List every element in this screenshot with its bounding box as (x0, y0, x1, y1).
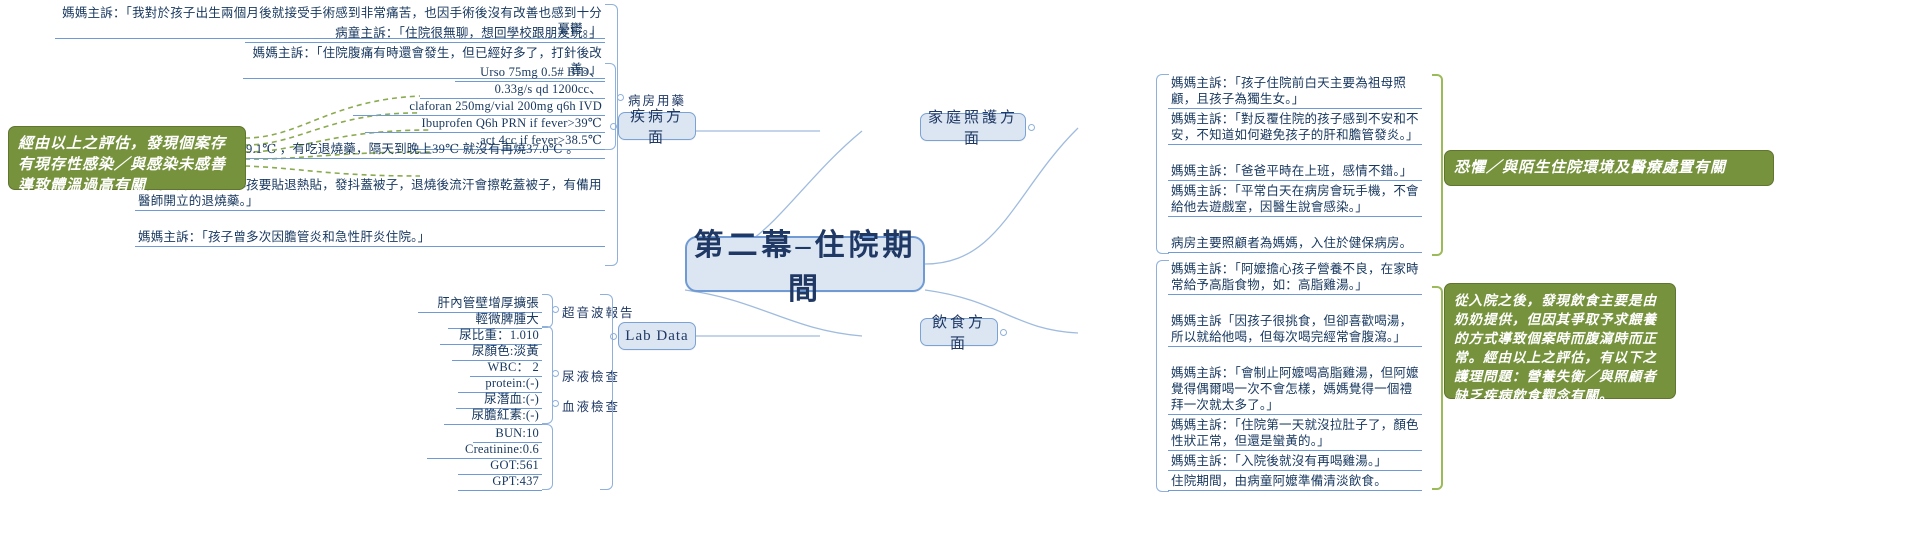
leaf-text: protein:(-) (485, 376, 539, 390)
blood-test-bracket (542, 424, 553, 490)
family-group-bracket (1156, 74, 1169, 254)
leaf-text: 媽媽主訴：「入院後就沒有再喝雞湯。」 (1171, 454, 1387, 468)
leaf-text: 病童主訴：「住院很無聊，想回學校跟朋友玩。」 (335, 26, 602, 40)
leaf-text: 媽媽主訴：「會制止阿嬤喝高脂雞湯，但阿嬤覺得偶爾喝一次不會怎樣，媽媽覺得一個禮拜… (1171, 366, 1419, 412)
lab-group-bracket (600, 294, 613, 490)
leaf-text: 肝內管壁增厚擴張 (437, 296, 539, 310)
branch-lab[interactable]: Lab Data (618, 322, 696, 350)
leaf-text: 媽媽主訴：「對反覆住院的孩子感到不安和不安，不知道如何避免孩子的肝和膽管發炎。」 (1171, 112, 1419, 142)
branch-disease[interactable]: 疾病方面 (618, 112, 696, 140)
connector-lines (0, 0, 1927, 545)
leaf-family-0[interactable]: 媽媽主訴：「孩子住院前白天主要為祖母照顧，且孩子為獨生女。」 (1168, 74, 1422, 109)
leaf-text: Creatinine:0.6 (465, 442, 539, 456)
leaf-diet-3[interactable]: 媽媽主訴：「住院第一天就沒拉肚子了，顏色性狀正常，但還是蠻黃的。」 (1168, 416, 1422, 451)
leaf-text: 媽媽主訴：「孩子住院前白天主要為祖母照顧，且孩子為獨生女。」 (1171, 76, 1406, 106)
urine-test-connector (552, 370, 559, 377)
leaf-disease-1[interactable]: 病童主訴：「住院很無聊，想回學校跟朋友玩。」 (245, 24, 605, 43)
branch-family[interactable]: 家庭照護方面 (920, 113, 1026, 141)
center-node-label: 第二幕–住院期間 (687, 220, 923, 308)
callout-text: 恐懼／與陌生住院環境及醫療處置有關 (1454, 158, 1726, 179)
leaf-text: GOT:561 (490, 458, 539, 472)
leaf-family-2[interactable]: 媽媽主訴：「爸爸平時在上班，感情不錯。」 (1168, 162, 1422, 181)
ward-meds-connector (617, 94, 624, 101)
leaf-text: WBC： 2 (487, 360, 539, 374)
leaf-text: 媽媽主訴：「孩子曾多次因膽管炎和急性肝炎住院。」 (138, 230, 430, 244)
disease-group-bracket (605, 4, 618, 266)
leaf-family-4[interactable]: 病房主要照顧者為媽媽，入住於健保病房。 (1168, 234, 1422, 253)
leaf-text: 尿潛血:(-) (484, 392, 539, 406)
leaf-text: 尿膽紅素:(-) (471, 408, 539, 422)
branch-diet-label: 飲食方面 (927, 311, 991, 353)
leaf-text: 媽媽主訴：「爸爸平時在上班，感情不錯。」 (1171, 164, 1413, 178)
leaf-text: 媽媽主訴：「平常白天在病房會玩手機，不會給他去遊戲室，因醫生說會感染。」 (1171, 184, 1419, 214)
leaf-family-1[interactable]: 媽媽主訴：「對反覆住院的孩子感到不安和不安，不知道如何避免孩子的肝和膽管發炎。」 (1168, 110, 1422, 145)
branch-family-connector (1028, 124, 1035, 131)
branch-family-label: 家庭照護方面 (927, 106, 1019, 148)
leaf-lab-7[interactable]: 尿膽紅素:(-) (444, 406, 542, 425)
leaf-text: 0.33g/s qd 1200cc、 (495, 82, 602, 96)
branch-lab-label: Lab Data (625, 328, 688, 345)
branch-diet-connector (1000, 329, 1007, 336)
mindmap-canvas: 第二幕–住院期間 疾病方面 Lab Data 家庭照護方面 飲食方面 媽媽主訴：… (0, 0, 1927, 545)
leaf-text: Urso 75mg 0.5# BID、 (480, 65, 602, 79)
leaf-text: 媽媽主訴：「阿嬤擔心孩子營養不良，在家時常給予高脂食物，如：高脂雞湯。」 (1171, 262, 1419, 292)
leaf-lab-11[interactable]: GPT:437 (458, 472, 542, 491)
leaf-diet-2[interactable]: 媽媽主訴：「會制止阿嬤喝高脂雞湯，但阿嬤覺得偶爾喝一次不會怎樣，媽媽覺得一個禮拜… (1168, 364, 1422, 415)
leaf-text: 媽媽主訴「因孩子很挑食，但卻喜歡喝湯，所以就給他喝，但每次喝完經常會腹瀉。」 (1171, 314, 1412, 344)
leaf-family-3[interactable]: 媽媽主訴：「平常白天在病房會玩手機，不會給他去遊戲室，因醫生說會感染。」 (1168, 182, 1422, 217)
branch-diet[interactable]: 飲食方面 (920, 318, 998, 346)
leaf-text: GPT:437 (492, 474, 539, 488)
callout-infection[interactable]: 經由以上之評估，發現個案存有現存性感染／與感染未感善導致體溫過高有關 (8, 126, 246, 190)
leaf-text: claforan 250mg/vial 200mg q6h IVD (409, 99, 602, 113)
diet-group-bracket (1156, 260, 1169, 492)
leaf-text: BUN:10 (495, 426, 539, 440)
leaf-text: 輕微脾腫大 (475, 312, 539, 326)
diet-green-bracket (1432, 286, 1443, 490)
callout-nutrition[interactable]: 從入院之後，發現飲食主要是由奶奶提供，但因其爭取予求餵養的方式導致個案時而腹瀉時… (1444, 283, 1676, 399)
leaf-text: 住院期間，由病童阿嬤準備清淡飲食。 (1171, 474, 1387, 488)
center-node[interactable]: 第二幕–住院期間 (685, 236, 925, 292)
callout-text: 從入院之後，發現飲食主要是由奶奶提供，但因其爭取予求餵養的方式導致個案時而腹瀉時… (1454, 293, 1657, 403)
ultrasound-connector (552, 306, 559, 313)
leaf-diet-5[interactable]: 住院期間，由病童阿嬤準備清淡飲食。 (1168, 472, 1422, 491)
leaf-text: 病房主要照顧者為媽媽，入住於健保病房。 (1171, 236, 1412, 250)
callout-text: 經由以上之評估，發現個案存有現存性感染／與感染未感善導致體溫過高有關 (18, 136, 226, 194)
sublabel-ultrasound: 超音波報告 (562, 302, 635, 321)
leaf-text: 媽媽主訴：「住院第一天就沒拉肚子了，顏色性狀正常，但還是蠻黃的。」 (1171, 418, 1419, 448)
sublabel-ward-meds: 病房用藥 (628, 90, 686, 109)
callout-fear[interactable]: 恐懼／與陌生住院環境及醫療處置有關 (1444, 150, 1774, 186)
leaf-disease-history[interactable]: 媽媽主訴：「孩子曾多次因膽管炎和急性肝炎住院。」 (135, 228, 605, 247)
family-green-bracket (1432, 74, 1443, 256)
blood-test-connector (552, 400, 559, 407)
leaf-text: Ibuprofen Q6h PRN if fever>39℃ (422, 116, 602, 130)
leaf-diet-1[interactable]: 媽媽主訴「因孩子很挑食，但卻喜歡喝湯，所以就給他喝，但每次喝完經常會腹瀉。」 (1168, 312, 1422, 347)
leaf-diet-0[interactable]: 媽媽主訴：「阿嬤擔心孩子營養不良，在家時常給予高脂食物，如：高脂雞湯。」 (1168, 260, 1422, 295)
leaf-diet-4[interactable]: 媽媽主訴：「入院後就沒有再喝雞湯。」 (1168, 452, 1422, 471)
leaf-text: 尿顏色:淡黃 (472, 344, 539, 358)
leaf-text: 尿比重：1.010 (459, 328, 539, 342)
branch-disease-label: 疾病方面 (625, 105, 689, 147)
